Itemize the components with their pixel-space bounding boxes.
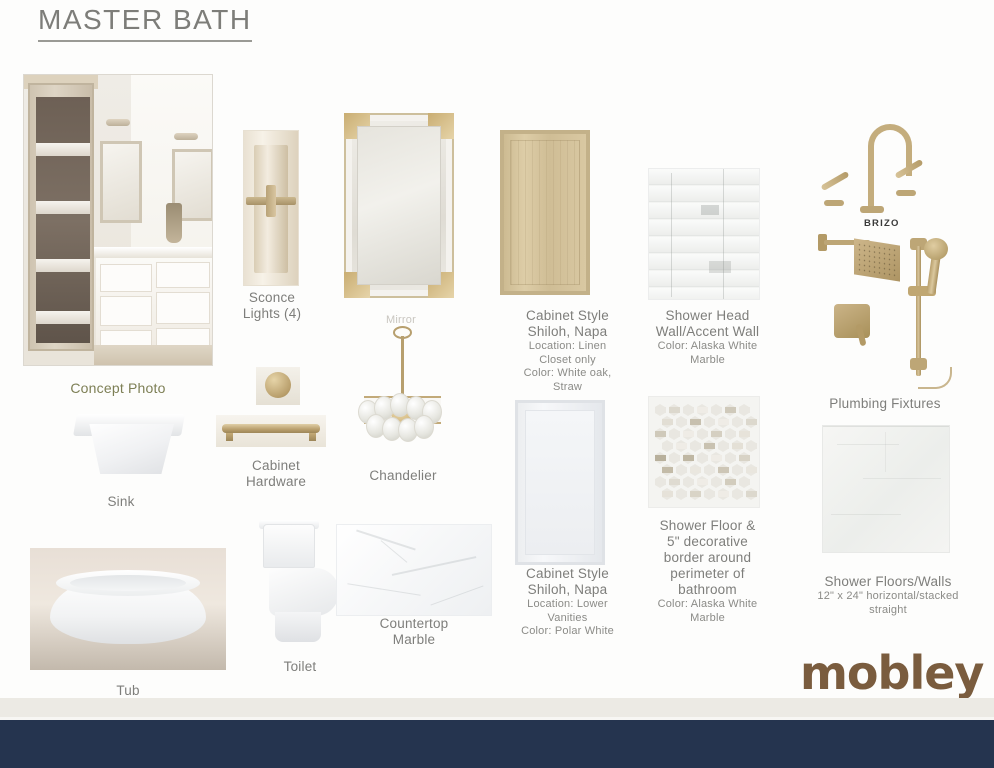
cabinet-white-door-image (515, 400, 605, 565)
cabinet-hardware-line2: Hardware (246, 474, 306, 489)
page-title: MASTER BATH (38, 4, 252, 42)
chandelier-globe (414, 415, 434, 439)
shower-head-wall-line1: Shower Head (666, 308, 750, 323)
plumbing-fixtures-label: Plumbing Fixtures (790, 396, 980, 412)
toilet-image (253, 524, 345, 642)
cabinet-oak-line4: Closet only (495, 354, 640, 368)
cabinet-oak-line5: Color: White oak, (495, 367, 640, 381)
cabinet-oak-door-image (500, 130, 590, 295)
toilet-bowl (269, 568, 339, 616)
concept-vanity-drawers (96, 258, 213, 358)
shower-head-wall-line4: Marble (630, 354, 785, 368)
mirror-glass (357, 126, 441, 285)
concept-sconce-icon (106, 119, 130, 126)
concept-drawer (100, 296, 152, 326)
toilet-tank (263, 524, 315, 568)
shower-floor-line5: bathroom (678, 582, 737, 597)
shower-floors-walls-line1: Shower Floors/Walls (824, 574, 951, 589)
shower-floor-line7: Marble (630, 612, 785, 626)
shower-floor-line1: Shower Floor & (660, 518, 756, 533)
countertop-line2: Marble (393, 632, 435, 647)
countertop-line1: Countertop (380, 616, 449, 631)
toilet-label: Toilet (248, 659, 352, 675)
concept-photo-image (23, 74, 213, 366)
cabinet-oak-line1: Cabinet Style (526, 308, 609, 323)
cabinet-oak-line3: Location: Linen (495, 340, 640, 354)
mirror-image (344, 113, 454, 298)
slide-bar (916, 246, 921, 376)
concept-vase (166, 203, 182, 243)
concept-drawer (100, 264, 152, 292)
faucet-base (860, 206, 884, 213)
knob-dome (265, 372, 291, 398)
pull-foot (226, 433, 233, 441)
shower-head-wall-line3: Color: Alaska White (630, 340, 785, 354)
sink-image (75, 414, 183, 476)
cabinet-knob-image (256, 367, 300, 405)
shower-floors-walls-tile-image (822, 425, 950, 553)
sconce-knob (266, 185, 276, 217)
sink-bowl (84, 424, 174, 474)
shower-floor-line2: 5" decorative (667, 534, 748, 549)
tub-inner-basin (70, 575, 186, 591)
concept-countertop (94, 247, 213, 258)
chandelier-rod (401, 336, 404, 398)
chandelier-label: Chandelier (344, 468, 462, 484)
tub-line1: Tub (116, 683, 139, 698)
concept-shelf (36, 259, 90, 272)
countertop-marble-image (336, 524, 492, 616)
faucet-spout (868, 172, 874, 210)
hand-shower-head-icon (924, 238, 948, 260)
concept-shelf (36, 143, 90, 156)
shower-floors-walls-line3: straight (800, 604, 976, 618)
tub-image (30, 548, 226, 670)
pull-foot (309, 433, 316, 441)
design-board: MASTER BATH Concept Photo (0, 0, 994, 768)
shower-head-wall-line2: Wall/Accent Wall (656, 324, 759, 339)
shower-floor-mosaic-image (648, 396, 760, 508)
chandelier-image (352, 320, 452, 448)
sconce-light-image (243, 130, 299, 286)
cabinet-white-line4: Vanities (495, 612, 640, 626)
cabinet-white-line3: Location: Lower (495, 598, 640, 612)
concept-shelf (36, 201, 90, 214)
shower-floor-line6: Color: Alaska White (630, 598, 785, 612)
sconce-label-line1: Sconce (218, 290, 326, 306)
concept-drawer (156, 292, 210, 324)
sink-label: Sink (60, 494, 182, 510)
shower-floors-walls-line2: 12" x 24" horizontal/stacked (800, 590, 976, 604)
shower-floor-line3: border around (664, 550, 751, 565)
toilet-base (275, 612, 321, 642)
concept-shelf (36, 311, 90, 324)
cabinet-white-line2: Shiloh, Napa (528, 582, 608, 597)
cabinet-white-line1: Cabinet Style (526, 566, 609, 581)
concept-linen-cabinet (28, 83, 94, 351)
sconce-label-line2: Lights (4) (218, 306, 326, 322)
cabinet-oak-line2: Shiloh, Napa (528, 324, 608, 339)
shower-head-icon (854, 238, 900, 281)
faucet-handle-base-right (896, 190, 916, 196)
faucet-handle-left (821, 171, 850, 191)
cabinet-oak-line6: Straw (495, 381, 640, 395)
shower-hose (918, 367, 952, 389)
cabinet-pull-image (216, 415, 326, 447)
concept-cabinet-glass (36, 97, 90, 343)
footer-navy-bar (0, 720, 994, 768)
brizo-brand-label: BRIZO (864, 218, 900, 229)
concept-photo-label: Concept Photo (23, 380, 213, 396)
cabinet-hardware-line1: Cabinet (252, 458, 300, 473)
cabinet-white-line5: Color: Polar White (495, 625, 640, 639)
concept-mirror (100, 141, 142, 223)
shower-valve-trim (834, 304, 870, 338)
concept-sconce-icon (174, 133, 198, 140)
shower-head-wall-tile-image (648, 168, 760, 300)
plumbing-fixtures-image: BRIZO (806, 112, 986, 384)
logo-wordmark: mobley (800, 650, 980, 696)
concept-drawer (156, 262, 210, 288)
faucet-handle-base-left (824, 200, 844, 206)
pull-bar (222, 424, 320, 433)
concept-floor (94, 345, 213, 365)
shower-floor-line4: perimeter of (670, 566, 744, 581)
